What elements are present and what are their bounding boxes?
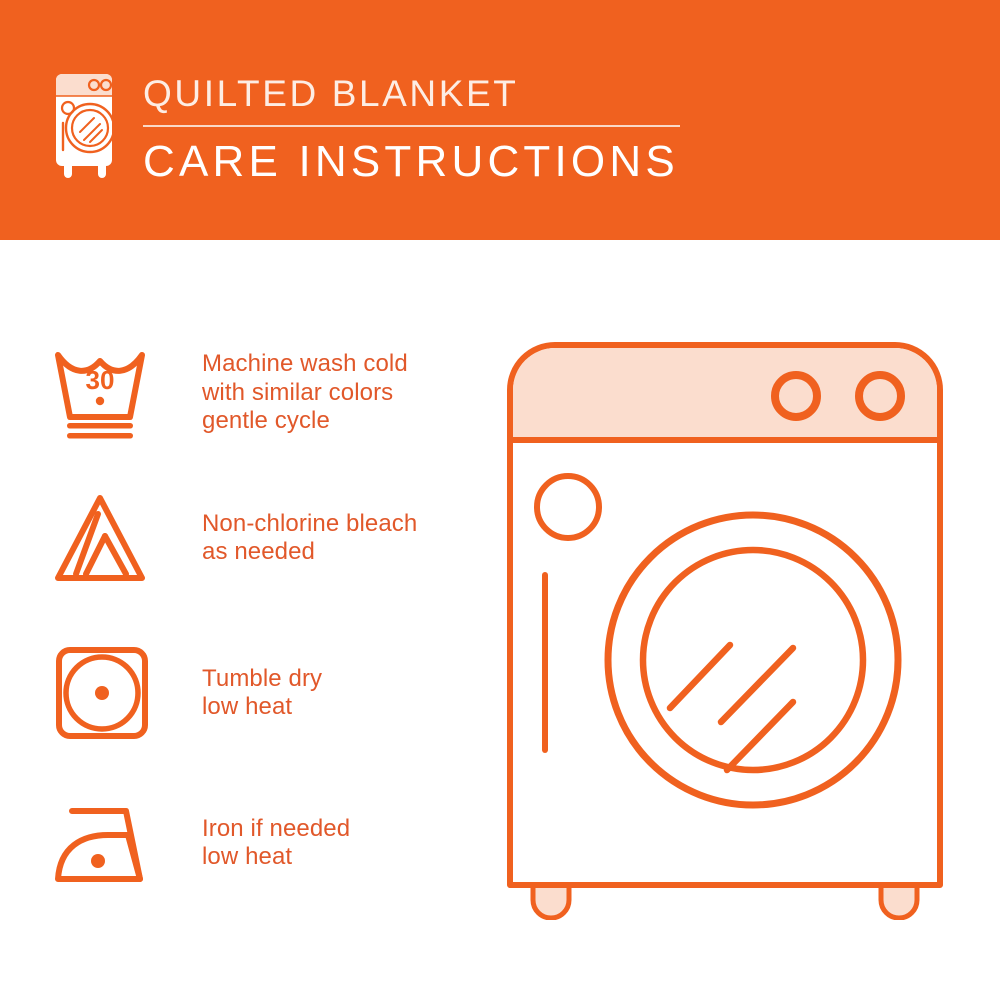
header-banner: QUILTED BLANKET CARE INSTRUCTIONS xyxy=(0,0,1000,240)
header-text-block: QUILTED BLANKET CARE INSTRUCTIONS xyxy=(143,72,743,188)
care-label-bleach: Non-chlorine bleach as needed xyxy=(202,510,417,567)
page-subtitle: CARE INSTRUCTIONS xyxy=(143,136,743,188)
care-label-wash: Machine wash cold with similar colors ge… xyxy=(202,350,408,436)
care-row-bleach: Non-chlorine bleach as needed xyxy=(50,490,490,586)
tumble-dry-icon xyxy=(50,645,160,741)
washing-machine-illustration xyxy=(495,330,965,920)
wash-temp-value: 30 xyxy=(86,365,115,395)
page-title: QUILTED BLANKET xyxy=(143,72,743,116)
care-instruction-list: 30 Machine wash cold with similar colors… xyxy=(0,240,500,1000)
wash-tub-icon: 30 xyxy=(50,345,160,441)
care-row-tumble-dry: Tumble dry low heat xyxy=(50,645,490,741)
care-label-tumble-dry: Tumble dry low heat xyxy=(202,665,322,722)
care-instructions-page: QUILTED BLANKET CARE INSTRUCTIONS 30 xyxy=(0,0,1000,1000)
care-label-iron: Iron if needed low heat xyxy=(202,815,350,872)
title-divider xyxy=(143,125,680,127)
care-row-iron: Iron if needed low heat xyxy=(50,795,490,891)
bleach-triangle-icon xyxy=(50,490,160,586)
iron-icon xyxy=(50,795,160,891)
care-row-wash: 30 Machine wash cold with similar colors… xyxy=(50,345,490,441)
washing-machine-icon xyxy=(44,68,124,180)
